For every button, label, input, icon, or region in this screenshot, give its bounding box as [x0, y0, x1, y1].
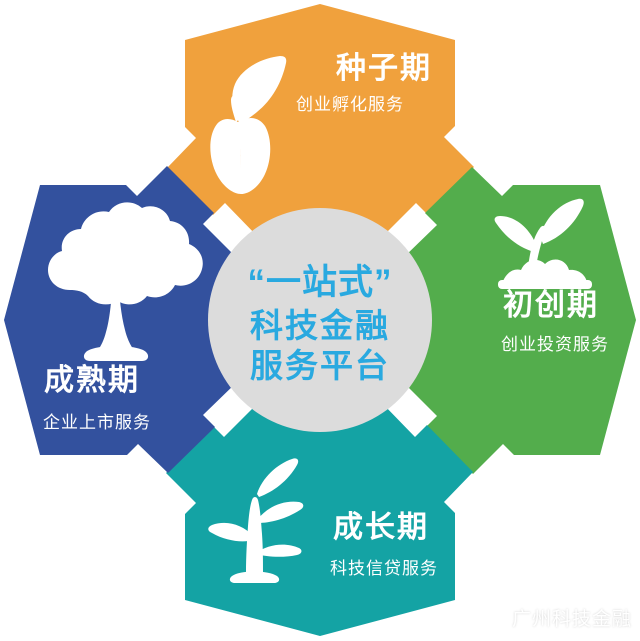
diagram-canvas: 种子期 创业孵化服务 初创期 创业投资服务: [0, 0, 640, 641]
segment-mature[interactable]: 成熟期 企业上市服务: [4, 166, 237, 473]
center-quote-line: “一站式”: [247, 263, 392, 302]
watermark-label: 广州科技金融: [512, 604, 632, 631]
segment-mature-subtitle: 企业上市服务: [43, 413, 151, 432]
segment-seed-title: 种子期: [336, 52, 432, 85]
segment-growth-title: 成长期: [333, 511, 429, 544]
segment-startup[interactable]: 初创期 创业投资服务: [403, 167, 636, 474]
watermark: 广州科技金融: [479, 604, 632, 631]
segment-startup-subtitle: 创业投资服务: [501, 335, 609, 354]
segment-seed-shape: [167, 4, 474, 237]
lifecycle-donut-diagram: 种子期 创业孵化服务 初创期 创业投资服务: [0, 0, 640, 641]
segment-startup-title: 初创期: [503, 289, 599, 322]
segment-mature-title: 成熟期: [44, 363, 140, 397]
center-line-2: 科技金融: [250, 307, 390, 344]
segment-seed[interactable]: 种子期 创业孵化服务: [167, 4, 474, 237]
segment-seed-subtitle: 创业孵化服务: [296, 95, 404, 114]
center-hub: “一站式” 科技金融 服务平台: [208, 208, 432, 432]
segment-growth[interactable]: 成长期 科技信贷服务: [166, 403, 473, 636]
segment-growth-subtitle: 科技信贷服务: [330, 559, 438, 578]
wechat-icon: [479, 607, 505, 629]
center-line-3: 服务平台: [250, 347, 390, 384]
